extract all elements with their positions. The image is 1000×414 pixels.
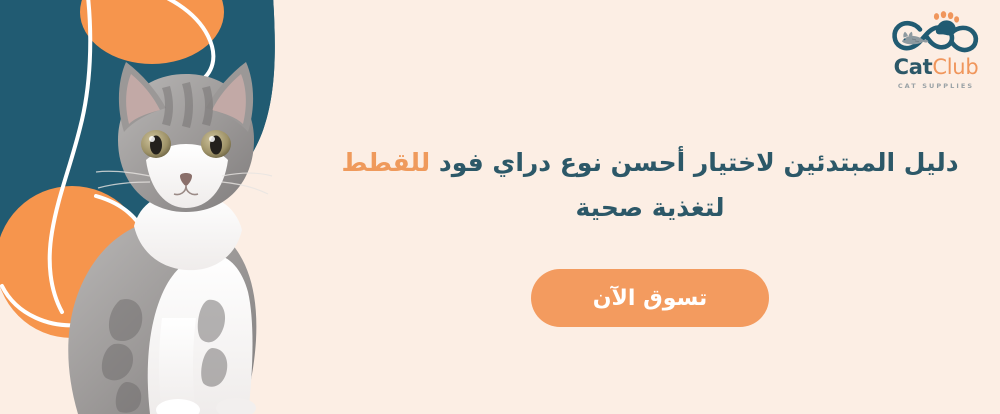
cta-wrapper: تسوق الآن [330, 269, 970, 327]
headline-line-2: لتغذية صحية [330, 185, 970, 230]
cat-eye-right [201, 130, 231, 158]
logo-tagline: CAT SUPPLIES [898, 82, 974, 90]
infinity-cat-paw-logo-icon [890, 10, 982, 56]
logo-word-club: Club [932, 55, 978, 79]
logo-word-cat: Cat [894, 55, 933, 79]
white-curve-line-vertical [50, 0, 91, 312]
headline-line-1: دليل المبتدئين لاختيار أحسن نوع دراي فود… [330, 140, 970, 185]
shop-now-button[interactable]: تسوق الآن [531, 269, 769, 327]
orange-blob-left [0, 0, 95, 262]
logo-wordmark: CatClub [894, 57, 979, 78]
promo-banner: CatClub CAT SUPPLIES دليل المبتدئين لاخت… [0, 0, 1000, 414]
teal-blob [0, 0, 275, 258]
orange-circle-bottom [0, 186, 148, 338]
headline-prefix: دليل المبتدئين لاختيار أحسن نوع دراي فود [430, 148, 958, 177]
hero-content: دليل المبتدئين لاختيار أحسن نوع دراي فود… [330, 140, 970, 327]
white-arc-top [130, 0, 213, 84]
cat-eye-left [141, 130, 171, 158]
headline-accent: للقطط [341, 148, 430, 177]
white-arc-bottom [2, 196, 150, 325]
brand-logo[interactable]: CatClub CAT SUPPLIES [884, 10, 988, 94]
orange-circle-top [80, 0, 224, 64]
